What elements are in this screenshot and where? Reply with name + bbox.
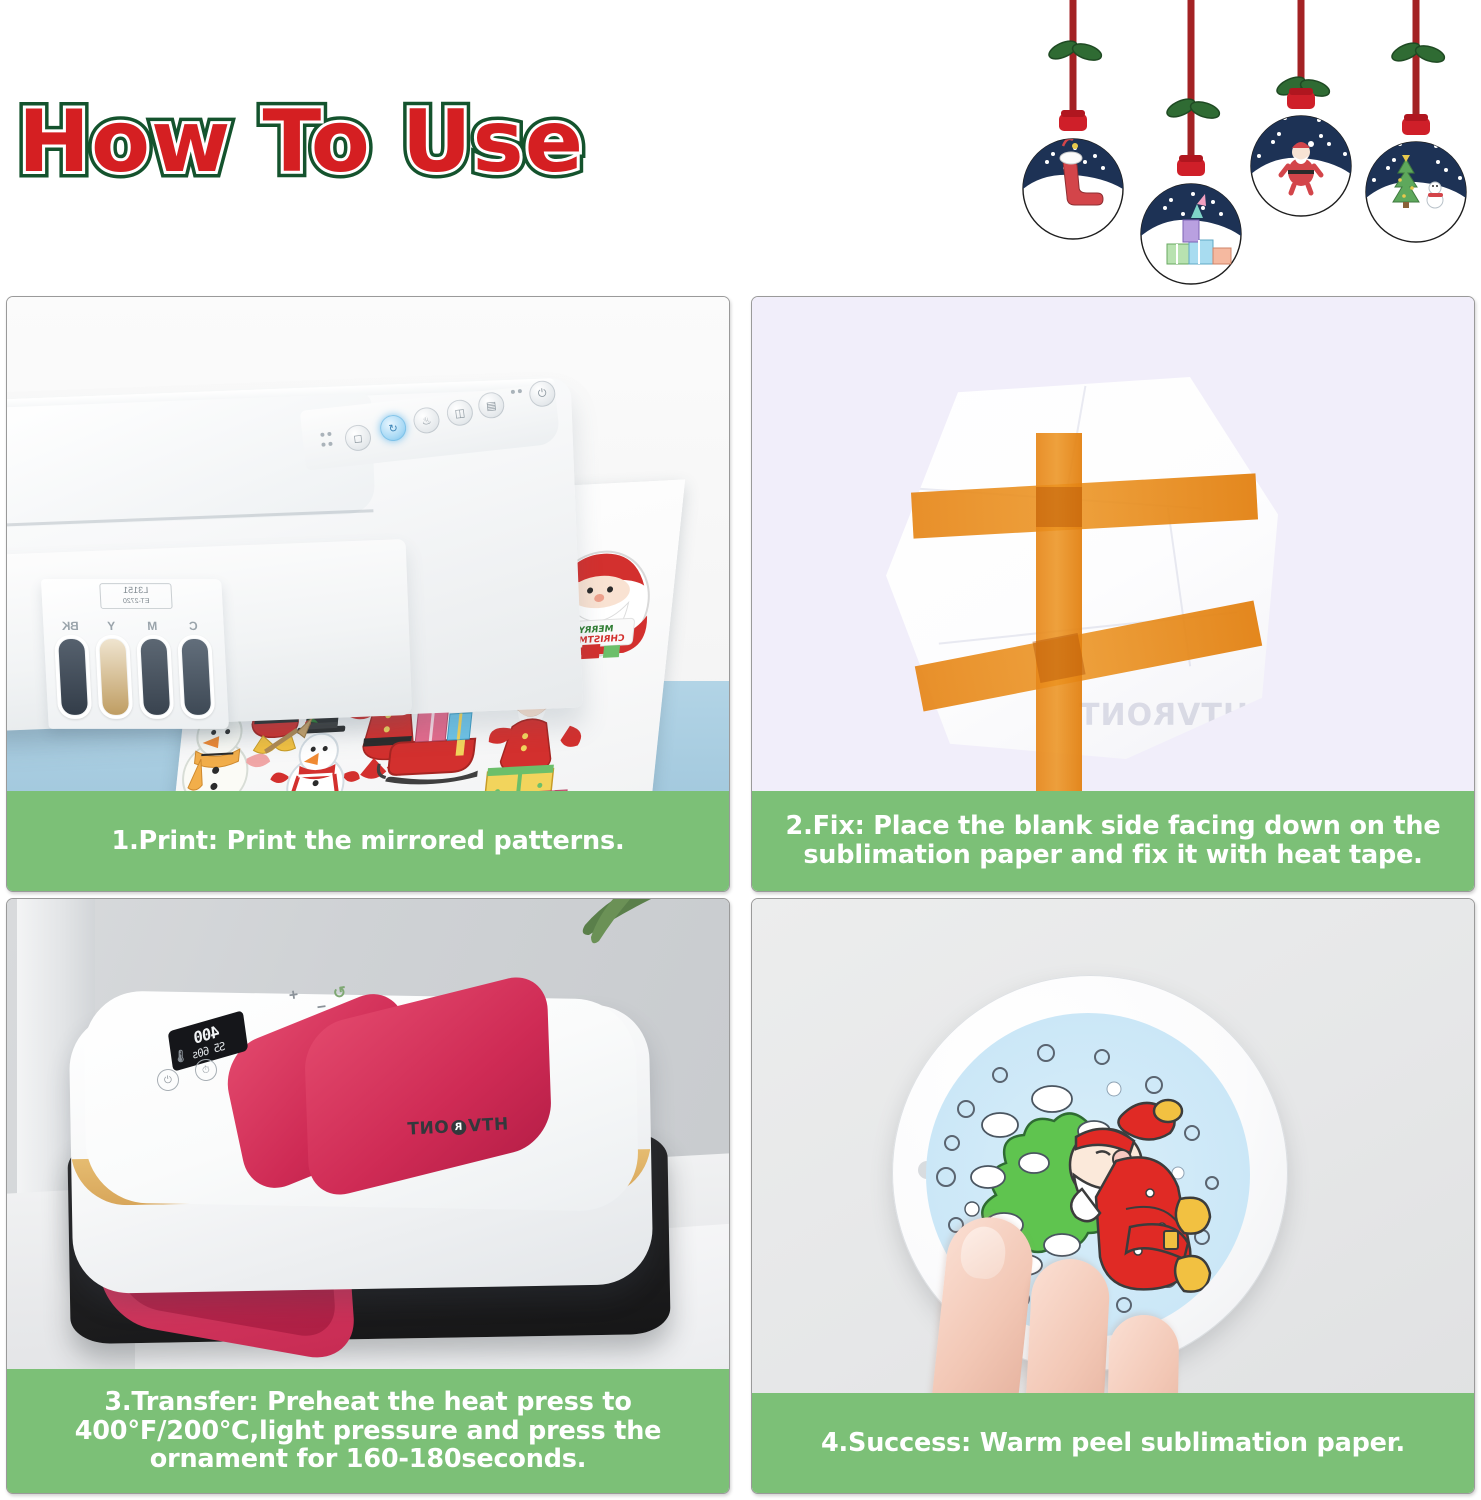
thumb-nail — [959, 1224, 1008, 1280]
brand-mark-r: R — [450, 1119, 466, 1135]
brand-text-htv: HTV — [467, 1114, 508, 1136]
ink-tank-y: Y — [94, 619, 133, 719]
printer-button-color-copy[interactable]: ▤ — [477, 391, 506, 420]
step-2-panel[interactable]: HTVRONT 2.Fix: Place the blank side faci… — [751, 296, 1475, 892]
printer-button-wifi[interactable]: ↻ — [379, 414, 408, 443]
hanging-ornaments-illustration — [1001, 0, 1471, 286]
printer-model-label: L3151 ET-2720 — [99, 583, 172, 609]
ink-tank-bk: BK — [53, 619, 92, 719]
step-3-panel[interactable]: 400 S5 60s + − ↻ ⏻ ⏱ 🌡 HTV R ONT 3.Trans… — [6, 898, 730, 1494]
step-1-caption: 1.Print: Print the mirrored patterns. — [7, 791, 729, 891]
printer-button-copy[interactable]: ◫ — [446, 398, 475, 427]
ornament-gifts — [1141, 155, 1241, 284]
printer-button-ink[interactable]: ♨ — [412, 406, 441, 435]
step-2-caption-line-2: sublimation paper and fix it with heat t… — [803, 841, 1422, 870]
ink-tank-c: C — [176, 619, 215, 719]
step-3-caption-line-2: 400°F/200℃,light pressure and press the — [75, 1417, 662, 1446]
step-2-caption: 2.Fix: Place the blank side facing down … — [752, 791, 1474, 891]
ornament-stocking — [1023, 110, 1123, 239]
step-4-panel[interactable]: 4.Success: Warm peel sublimation paper. — [751, 898, 1475, 1494]
step-1-panel[interactable]: MERRY CHRISTMAS MERRY — [6, 296, 730, 892]
step-2-caption-line-1: 2.Fix: Place the blank side facing down … — [786, 812, 1441, 841]
plant-leaves-decor — [481, 899, 651, 991]
ornament-santa — [1251, 88, 1351, 216]
ornament-tree-snowman — [1366, 114, 1466, 242]
heat-press-reset-icon[interactable]: ↻ — [332, 982, 348, 1004]
printer-button-power[interactable]: ⏻ — [528, 379, 557, 408]
step-4-caption: 4.Success: Warm peel sublimation paper. — [752, 1393, 1474, 1493]
header: How To Use How To Use How To Use — [0, 0, 1481, 288]
steps-grid: MERRY CHRISTMAS MERRY — [6, 296, 1475, 1494]
step-3-caption: 3.Transfer: Preheat the heat press to 40… — [7, 1369, 729, 1493]
heat-press-temperature-icon: 🌡 — [173, 1049, 188, 1063]
printer-ink-tank-block: L3151 ET-2720 BK Y M — [41, 579, 229, 729]
ink-tank-m: M — [135, 619, 174, 719]
step-1-caption-line-1: 1.Print: Print the mirrored patterns. — [112, 827, 625, 856]
step-3-caption-line-1: 3.Transfer: Preheat the heat press to — [104, 1388, 631, 1417]
step-3-caption-line-3: ornament for 160-180seconds. — [150, 1445, 586, 1474]
step-4-caption-line-1: 4.Success: Warm peel sublimation paper. — [821, 1429, 1405, 1458]
brand-text-ont: ONT — [407, 1117, 450, 1139]
page-title: How To Use — [18, 92, 584, 192]
printer-button-stop[interactable]: ◻ — [344, 424, 373, 453]
